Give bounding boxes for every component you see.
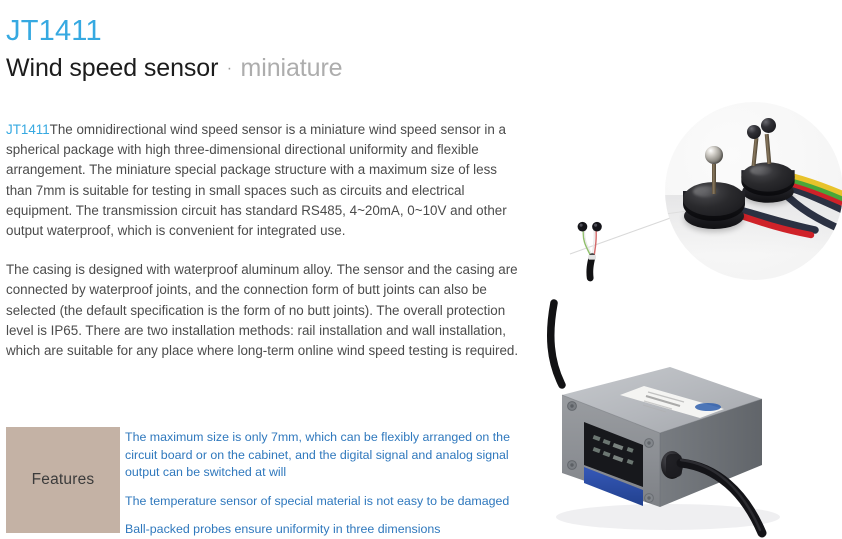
page-subtitle-qualifier: miniature: [241, 54, 343, 82]
feature-list-item: Ball-packed probes ensure uniformity in …: [125, 521, 525, 539]
feature-list-item: The maximum size is only 7mm, which can …: [125, 429, 525, 482]
sensor-enclosure: [548, 355, 842, 533]
input-cable: [551, 303, 562, 385]
description-paragraph-2: The casing is designed with waterproof a…: [6, 260, 526, 361]
page-title-model-code: JT1411: [6, 14, 526, 48]
disc-highlight: [750, 166, 772, 175]
probe-stem-front: [712, 164, 716, 194]
product-text-column: JT1411 Wind speed sensor · miniature JT1…: [6, 0, 526, 361]
features-badge: Features: [6, 427, 120, 533]
page-subtitle: Wind speed sensor · miniature: [6, 53, 526, 83]
probe-ball-rear-b: [761, 118, 776, 133]
actual-size-probe-assembly: [570, 218, 622, 278]
features-list: The maximum size is only 7mm, which can …: [125, 429, 525, 539]
magnified-probe-inset: [665, 102, 842, 280]
description-paragraph-1-text: The omnidirectional wind speed sensor is…: [6, 122, 507, 238]
probe-ball-rear-a: [747, 125, 761, 139]
label-brand-logo: [695, 403, 721, 411]
product-photo: [540, 0, 842, 533]
features-badge-label: Features: [32, 471, 95, 489]
page-subtitle-main: Wind speed sensor: [6, 54, 218, 82]
product-page: JT1411 Wind speed sensor · miniature JT1…: [0, 0, 842, 533]
features-section: Features The maximum size is only 7mm, w…: [6, 427, 540, 533]
probe-ball-front-metallic: [705, 146, 723, 164]
feature-list-item: The temperature sensor of special materi…: [125, 493, 525, 511]
description-paragraph-1: JT1411The omnidirectional wind speed sen…: [6, 120, 526, 241]
probe-disc-rear: [741, 162, 794, 215]
inline-model-code: JT1411: [6, 122, 50, 137]
subtitle-separator-dot: ·: [223, 60, 236, 77]
